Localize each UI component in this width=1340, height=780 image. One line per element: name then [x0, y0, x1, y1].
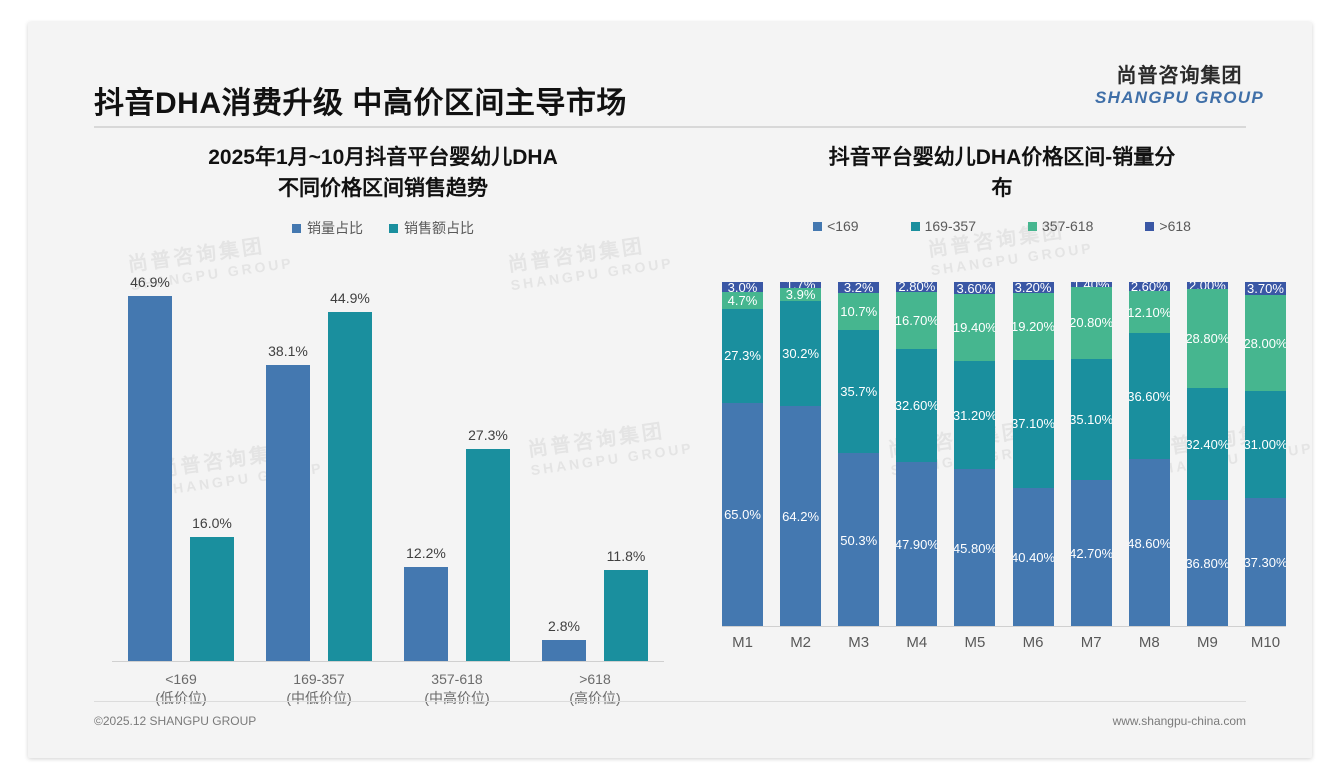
bar-rect[interactable] — [266, 365, 310, 662]
right-chart-x-axis-labels: M1M2M3M4M5M6M7M8M9M10 — [722, 634, 1286, 651]
bar-rect[interactable] — [604, 570, 648, 662]
segment-value-label: 28.80% — [1187, 331, 1228, 346]
bar-value-label: 46.9% — [130, 274, 170, 290]
bar-column[interactable]: 12.2% — [404, 272, 448, 662]
bar-value-label: 44.9% — [330, 290, 370, 306]
segment-value-label: 37.30% — [1245, 555, 1286, 570]
bar-value-label: 27.3% — [468, 427, 508, 443]
footer-divider — [94, 701, 1246, 702]
legend-item-sales-volume[interactable]: 销量占比 — [292, 218, 363, 238]
bar-value-label: 11.8% — [607, 548, 646, 564]
segment-value-label: 42.70% — [1071, 546, 1112, 561]
x-axis-label: 169-357(中低价位) — [250, 670, 388, 708]
x-axis-label: M7 — [1071, 634, 1112, 651]
brand-logo: 尚普咨询集团 SHANGPU GROUP — [1095, 64, 1264, 108]
logo-chinese-text: 尚普咨询集团 — [1095, 64, 1264, 88]
footer-copyright: ©2025.12 SHANGPU GROUP — [94, 714, 256, 728]
chart-panel-right: 抖音平台婴幼儿DHA价格区间-销量分 布 <169169-357357-618>… — [704, 142, 1300, 712]
segment-value-label: 40.40% — [1013, 550, 1054, 565]
segment-value-label: 3.70% — [1247, 282, 1284, 295]
bar-column[interactable]: 11.8% — [604, 272, 648, 662]
stacked-bar-segment[interactable]: 50.3% — [838, 453, 879, 627]
bar-column[interactable]: 38.1% — [266, 272, 310, 662]
stacked-bar-segment[interactable]: 16.70% — [896, 292, 937, 350]
stacked-bar-segment[interactable]: 31.00% — [1245, 391, 1286, 498]
x-axis-label: M9 — [1187, 634, 1228, 651]
stacked-bar-segment[interactable]: 10.7% — [838, 293, 879, 330]
bar-rect[interactable] — [404, 567, 448, 662]
legend-item-169-357[interactable]: 169-357 — [911, 218, 976, 234]
stacked-bar-segment[interactable]: 32.60% — [896, 349, 937, 461]
x-axis-label: M1 — [722, 634, 763, 651]
right-chart-title: 抖音平台婴幼儿DHA价格区间-销量分 布 — [704, 142, 1300, 204]
legend-swatch-icon — [1145, 222, 1154, 231]
bar-group: 2.8%11.8% — [526, 272, 664, 662]
stacked-bar-segment[interactable]: 2.60% — [1129, 282, 1170, 291]
legend-swatch-icon — [292, 224, 301, 233]
stacked-bar-column[interactable]: 3.20%19.20%37.10%40.40% — [1013, 282, 1054, 627]
x-axis-label: <169(低价位) — [112, 670, 250, 708]
stacked-bar-column[interactable]: 2.60%12.10%36.60%48.60% — [1129, 282, 1170, 627]
x-axis-line — [722, 626, 1286, 627]
segment-value-label: 35.10% — [1071, 412, 1112, 427]
stacked-bar-segment[interactable]: 2.00% — [1187, 282, 1228, 289]
stacked-bar-segment[interactable]: 3.0% — [722, 282, 763, 292]
legend-item-<169[interactable]: <169 — [813, 218, 859, 234]
stacked-bar-segment[interactable]: 65.0% — [722, 403, 763, 627]
legend-label: >618 — [1159, 218, 1191, 234]
legend-label: 357-618 — [1042, 218, 1093, 234]
stacked-bar-column[interactable]: 2.80%16.70%32.60%47.90% — [896, 282, 937, 627]
legend-label: 169-357 — [925, 218, 976, 234]
slide: 抖音DHA消费升级 中高价区间主导市场 尚普咨询集团 SHANGPU GROUP… — [28, 22, 1312, 758]
stacked-bar-segment[interactable]: 37.10% — [1013, 360, 1054, 488]
stacked-bar-column[interactable]: 3.70%28.00%31.00%37.30% — [1245, 282, 1286, 627]
stacked-bar-segment[interactable]: 47.90% — [896, 462, 937, 627]
x-axis-label: M5 — [954, 634, 995, 651]
segment-value-label: 2.00% — [1189, 282, 1226, 289]
segment-value-label: 20.80% — [1071, 315, 1112, 330]
segment-value-label: 47.90% — [896, 537, 937, 552]
segment-value-label: 19.20% — [1013, 319, 1054, 334]
stacked-bar-segment[interactable]: 30.2% — [780, 301, 821, 405]
stacked-bar-chart: 3.0%4.7%27.3%65.0%1.7%3.9%30.2%64.2%3.2%… — [722, 282, 1286, 627]
segment-value-label: 4.7% — [728, 293, 758, 308]
legend-swatch-icon — [389, 224, 398, 233]
bar-group: 12.2%27.3% — [388, 272, 526, 662]
stacked-bar-column[interactable]: 3.60%19.40%31.20%45.80% — [954, 282, 995, 627]
x-axis-label: M6 — [1013, 634, 1054, 651]
stacked-bar-segment[interactable]: 40.40% — [1013, 488, 1054, 627]
segment-value-label: 19.40% — [954, 320, 995, 335]
stacked-bar-segment[interactable]: 35.10% — [1071, 359, 1112, 480]
left-chart-title-line2: 不同价格区间销售趋势 — [88, 173, 678, 204]
bar-rect[interactable] — [128, 296, 172, 662]
x-axis-label: M3 — [838, 634, 879, 651]
legend-label: <169 — [827, 218, 859, 234]
segment-value-label: 36.60% — [1129, 389, 1170, 404]
stacked-bar-segment[interactable]: 3.60% — [954, 282, 995, 294]
x-axis-label: M8 — [1129, 634, 1170, 651]
segment-value-label: 2.80% — [898, 282, 935, 292]
bar-rect[interactable] — [542, 640, 586, 662]
bar-column[interactable]: 44.9% — [328, 272, 372, 662]
segment-value-label: 65.0% — [724, 507, 761, 522]
bar-rect[interactable] — [190, 537, 234, 662]
stacked-bar-segment[interactable]: 3.9% — [780, 288, 821, 301]
stacked-bar-segment[interactable]: 35.7% — [838, 330, 879, 453]
stacked-bar-segment[interactable]: 4.7% — [722, 292, 763, 308]
stacked-bar-column[interactable]: 2.00%28.80%32.40%36.80% — [1187, 282, 1228, 627]
bar-column[interactable]: 27.3% — [466, 272, 510, 662]
segment-value-label: 3.9% — [786, 288, 816, 301]
segment-value-label: 3.20% — [1015, 282, 1052, 293]
legend-label: 销售额占比 — [404, 218, 474, 238]
grouped-bar-chart: 46.9%16.0%38.1%44.9%12.2%27.3%2.8%11.8% — [112, 272, 664, 662]
left-chart-title-line1: 2025年1月~10月抖音平台婴幼儿DHA — [88, 142, 678, 173]
bar-group: 38.1%44.9% — [250, 272, 388, 662]
bar-rect[interactable] — [328, 312, 372, 662]
segment-value-label: 16.70% — [896, 313, 937, 328]
stacked-bar-segment[interactable]: 36.60% — [1129, 333, 1170, 459]
segment-value-label: 2.60% — [1131, 282, 1168, 291]
stacked-bar-column[interactable]: 1.7%3.9%30.2%64.2% — [780, 282, 821, 627]
stacked-bar-segment[interactable]: 45.80% — [954, 469, 995, 627]
stacked-bar-segment[interactable]: 3.2% — [838, 282, 879, 293]
stacked-bar-segment[interactable]: 28.00% — [1245, 295, 1286, 392]
stacked-bar-segment[interactable]: 28.80% — [1187, 289, 1228, 388]
stacked-bar-segment[interactable]: 2.80% — [896, 282, 937, 292]
x-axis-label: M10 — [1245, 634, 1286, 651]
left-chart-x-axis-labels: <169(低价位)169-357(中低价位)357-618(中高价位)>618(… — [112, 670, 664, 708]
right-chart-title-line1: 抖音平台婴幼儿DHA价格区间-销量分 — [704, 142, 1300, 173]
legend-item-357-618[interactable]: 357-618 — [1028, 218, 1093, 234]
segment-value-label: 36.80% — [1187, 556, 1228, 571]
segment-value-label: 3.0% — [728, 282, 758, 292]
logo-english-text: SHANGPU GROUP — [1095, 88, 1264, 108]
segment-value-label: 27.3% — [724, 348, 761, 363]
x-axis-label: M2 — [780, 634, 821, 651]
segment-value-label: 37.10% — [1013, 416, 1054, 431]
segment-value-label: 35.7% — [840, 384, 877, 399]
legend-label: 销量占比 — [307, 218, 363, 238]
bar-rect[interactable] — [466, 449, 510, 662]
legend-swatch-icon — [1028, 222, 1037, 231]
x-axis-line — [112, 661, 664, 662]
segment-value-label: 50.3% — [840, 533, 877, 548]
stacked-bar-segment[interactable]: 48.60% — [1129, 459, 1170, 627]
left-chart-title: 2025年1月~10月抖音平台婴幼儿DHA 不同价格区间销售趋势 — [88, 142, 678, 204]
right-chart-legend: <169169-357357-618>618 — [704, 218, 1300, 234]
segment-value-label: 31.00% — [1245, 437, 1286, 452]
stacked-bar-column[interactable]: 3.2%10.7%35.7%50.3% — [838, 282, 879, 627]
stacked-bar-segment[interactable]: 27.3% — [722, 309, 763, 403]
stacked-bar-segment[interactable]: 31.20% — [954, 361, 995, 469]
x-axis-label: >618(高价位) — [526, 670, 664, 708]
segment-value-label: 31.20% — [954, 408, 995, 423]
bar-value-label: 2.8% — [548, 618, 580, 634]
segment-value-label: 32.60% — [896, 398, 937, 413]
slide-header: 抖音DHA消费升级 中高价区间主导市场 尚普咨询集团 SHANGPU GROUP — [28, 22, 1312, 114]
segment-value-label: 32.40% — [1187, 437, 1228, 452]
legend-item->618[interactable]: >618 — [1145, 218, 1191, 234]
stacked-bar-segment[interactable]: 19.20% — [1013, 293, 1054, 359]
segment-value-label: 3.60% — [957, 282, 994, 294]
stacked-bar-column[interactable]: 1.40%20.80%35.10%42.70% — [1071, 282, 1112, 627]
stacked-bar-segment[interactable]: 32.40% — [1187, 388, 1228, 500]
stacked-bar-segment[interactable]: 37.30% — [1245, 498, 1286, 627]
segment-value-label: 28.00% — [1245, 336, 1286, 351]
stacked-bar-segment[interactable]: 19.40% — [954, 294, 995, 361]
bar-column[interactable]: 46.9% — [128, 272, 172, 662]
segment-value-label: 30.2% — [782, 346, 819, 361]
right-chart-title-line2: 布 — [704, 173, 1300, 204]
bar-column[interactable]: 16.0% — [190, 272, 234, 662]
x-axis-label: M4 — [896, 634, 937, 651]
bar-value-label: 16.0% — [192, 515, 232, 531]
bar-value-label: 12.2% — [406, 545, 446, 561]
legend-swatch-icon — [911, 222, 920, 231]
chart-panel-left: 2025年1月~10月抖音平台婴幼儿DHA 不同价格区间销售趋势 销量占比 销售… — [88, 142, 678, 712]
bar-group: 46.9%16.0% — [112, 272, 250, 662]
segment-value-label: 64.2% — [782, 509, 819, 524]
stacked-bar-column[interactable]: 3.0%4.7%27.3%65.0% — [722, 282, 763, 627]
legend-item-sales-value[interactable]: 销售额占比 — [389, 218, 474, 238]
stacked-bar-segment[interactable]: 12.10% — [1129, 291, 1170, 333]
bar-value-label: 38.1% — [268, 343, 308, 359]
bar-column[interactable]: 2.8% — [542, 272, 586, 662]
segment-value-label: 45.80% — [954, 541, 995, 556]
x-axis-label: 357-618(中高价位) — [388, 670, 526, 708]
stacked-bar-segment[interactable]: 20.80% — [1071, 287, 1112, 359]
stacked-bar-segment[interactable]: 36.80% — [1187, 500, 1228, 627]
page-title: 抖音DHA消费升级 中高价区间主导市场 — [94, 78, 627, 122]
left-chart-legend: 销量占比 销售额占比 — [88, 218, 678, 238]
stacked-bar-segment[interactable]: 3.20% — [1013, 282, 1054, 293]
stacked-bar-segment[interactable]: 42.70% — [1071, 480, 1112, 627]
segment-value-label: 10.7% — [840, 304, 877, 319]
segment-value-label: 12.10% — [1129, 305, 1170, 320]
stacked-bar-segment[interactable]: 64.2% — [780, 406, 821, 627]
header-divider — [94, 126, 1246, 128]
legend-swatch-icon — [813, 222, 822, 231]
segment-value-label: 3.2% — [844, 282, 874, 293]
stacked-bar-segment[interactable]: 3.70% — [1245, 282, 1286, 295]
segment-value-label: 48.60% — [1129, 536, 1170, 551]
footer-website[interactable]: www.shangpu-china.com — [1113, 714, 1246, 728]
